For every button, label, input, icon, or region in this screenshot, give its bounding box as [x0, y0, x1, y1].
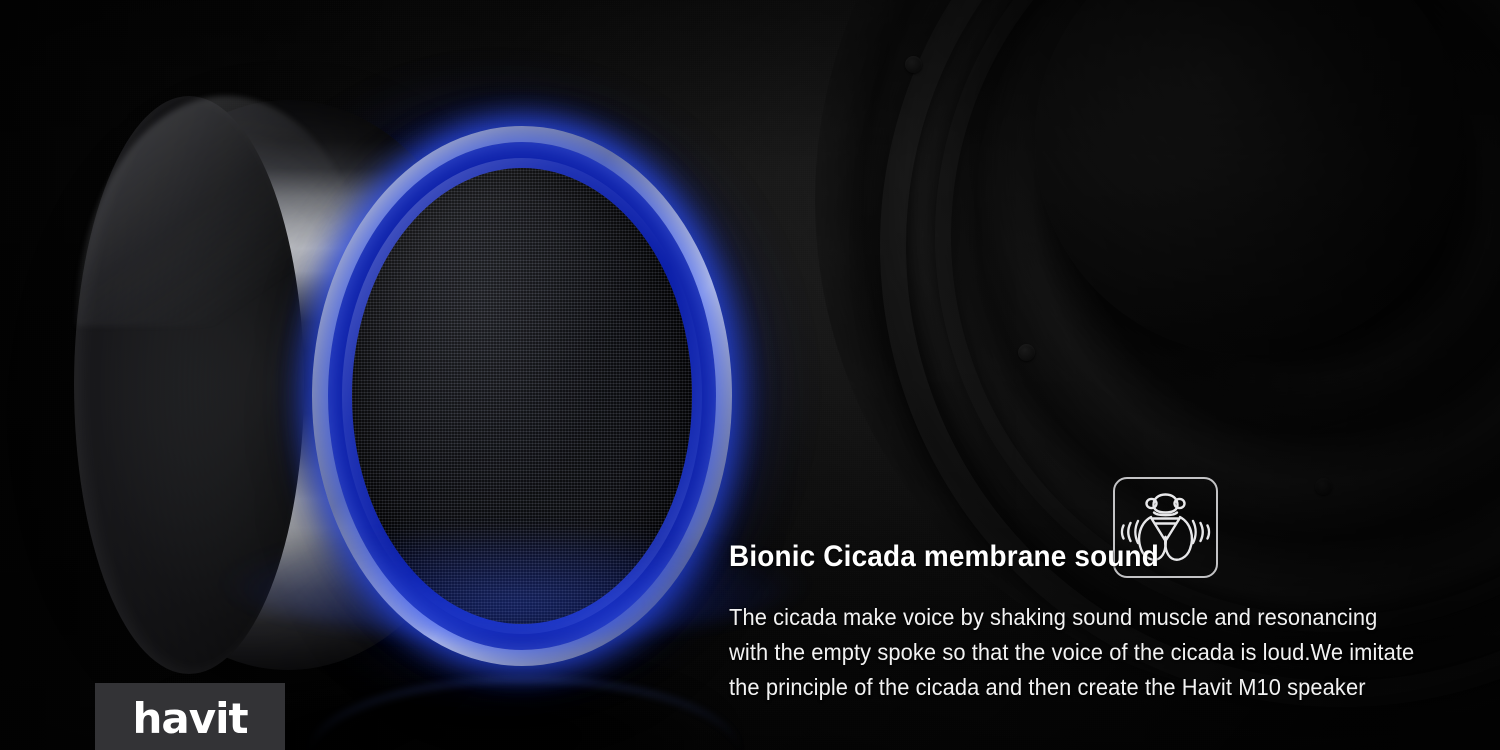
feature-paragraph-line: with the empty spoke so that the voice o…	[729, 635, 1451, 670]
feature-headline: Bionic Cicada membrane sound	[729, 540, 1436, 574]
feature-paragraph-line: The cicada make voice by shaking sound m…	[729, 600, 1451, 635]
speaker-product-image	[60, 78, 780, 698]
feature-paragraph: The cicada make voice by shaking sound m…	[729, 600, 1451, 705]
havit-logo: havit	[95, 683, 285, 750]
havit-logo-text: havit	[132, 698, 247, 740]
feature-copy-block: Bionic Cicada membrane sound The cicada …	[729, 540, 1489, 705]
speaker-surface-reflection	[235, 528, 795, 638]
product-feature-banner: Bionic Cicada membrane sound The cicada …	[0, 0, 1500, 750]
feature-paragraph-line: the principle of the cicada and then cre…	[729, 670, 1451, 705]
